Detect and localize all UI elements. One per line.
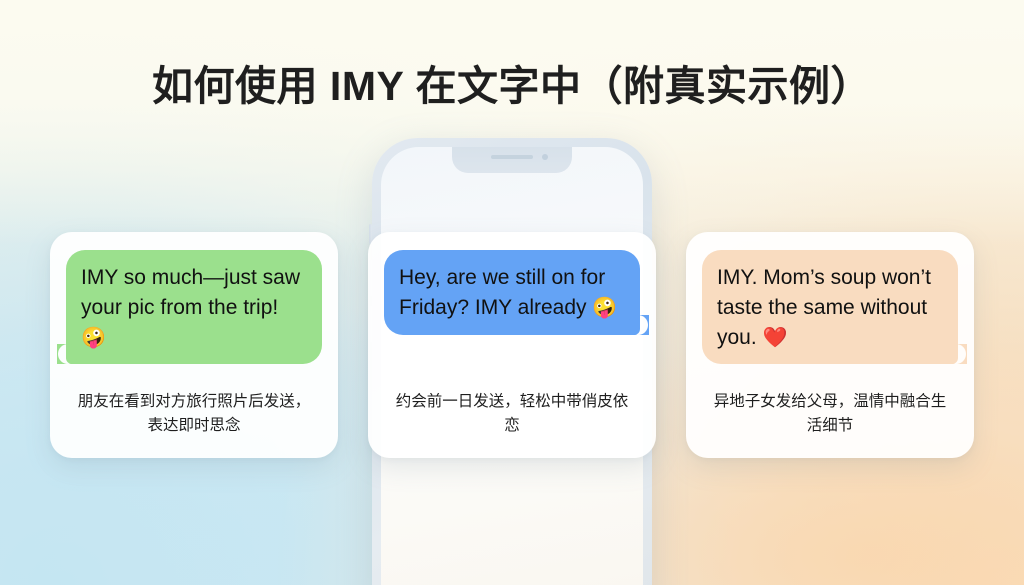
bubble-tail-2: [629, 315, 649, 335]
message-bubble-1: IMY so much—just saw your pic from the t…: [66, 250, 322, 364]
message-bubble-2: Hey, are we still on for Friday? IMY alr…: [384, 250, 640, 335]
bubble-tail-3: [947, 344, 967, 364]
bubble-tail-1: [57, 344, 77, 364]
card-caption-2: 约会前一日发送，轻松中带俏皮依恋: [384, 380, 640, 444]
example-cards: IMY so much—just saw your pic from the t…: [0, 232, 1024, 462]
message-bubble-text-3: IMY. Mom’s soup won’t taste the same wit…: [717, 266, 931, 349]
phone-camera-icon: [542, 154, 548, 160]
example-card-3[interactable]: IMY. Mom’s soup won’t taste the same wit…: [686, 232, 974, 458]
example-card-2[interactable]: Hey, are we still on for Friday? IMY alr…: [368, 232, 656, 458]
example-card-1[interactable]: IMY so much—just saw your pic from the t…: [50, 232, 338, 458]
card-caption-1: 朋友在看到对方旅行照片后发送，表达即时思念: [66, 380, 322, 444]
page-title: 如何使用 IMY 在文字中（附真实示例）: [0, 52, 1024, 112]
message-bubble-text-2: Hey, are we still on for Friday? IMY alr…: [399, 266, 605, 319]
slide-canvas: 如何使用 IMY 在文字中（附真实示例） IMY so much—just sa…: [0, 0, 1024, 585]
red-heart-emoji: ❤️: [763, 327, 788, 349]
message-bubble-3: IMY. Mom’s soup won’t taste the same wit…: [702, 250, 958, 364]
phone-speaker-icon: [491, 155, 533, 159]
card-caption-3: 异地子女发给父母，温情中融合生活细节: [702, 380, 958, 444]
woozy-face-emoji: 🤪: [81, 327, 106, 349]
zany-face-emoji: 🤪: [592, 297, 617, 319]
phone-notch: [452, 147, 572, 173]
message-bubble-text-1: IMY so much—just saw your pic from the t…: [81, 266, 300, 319]
